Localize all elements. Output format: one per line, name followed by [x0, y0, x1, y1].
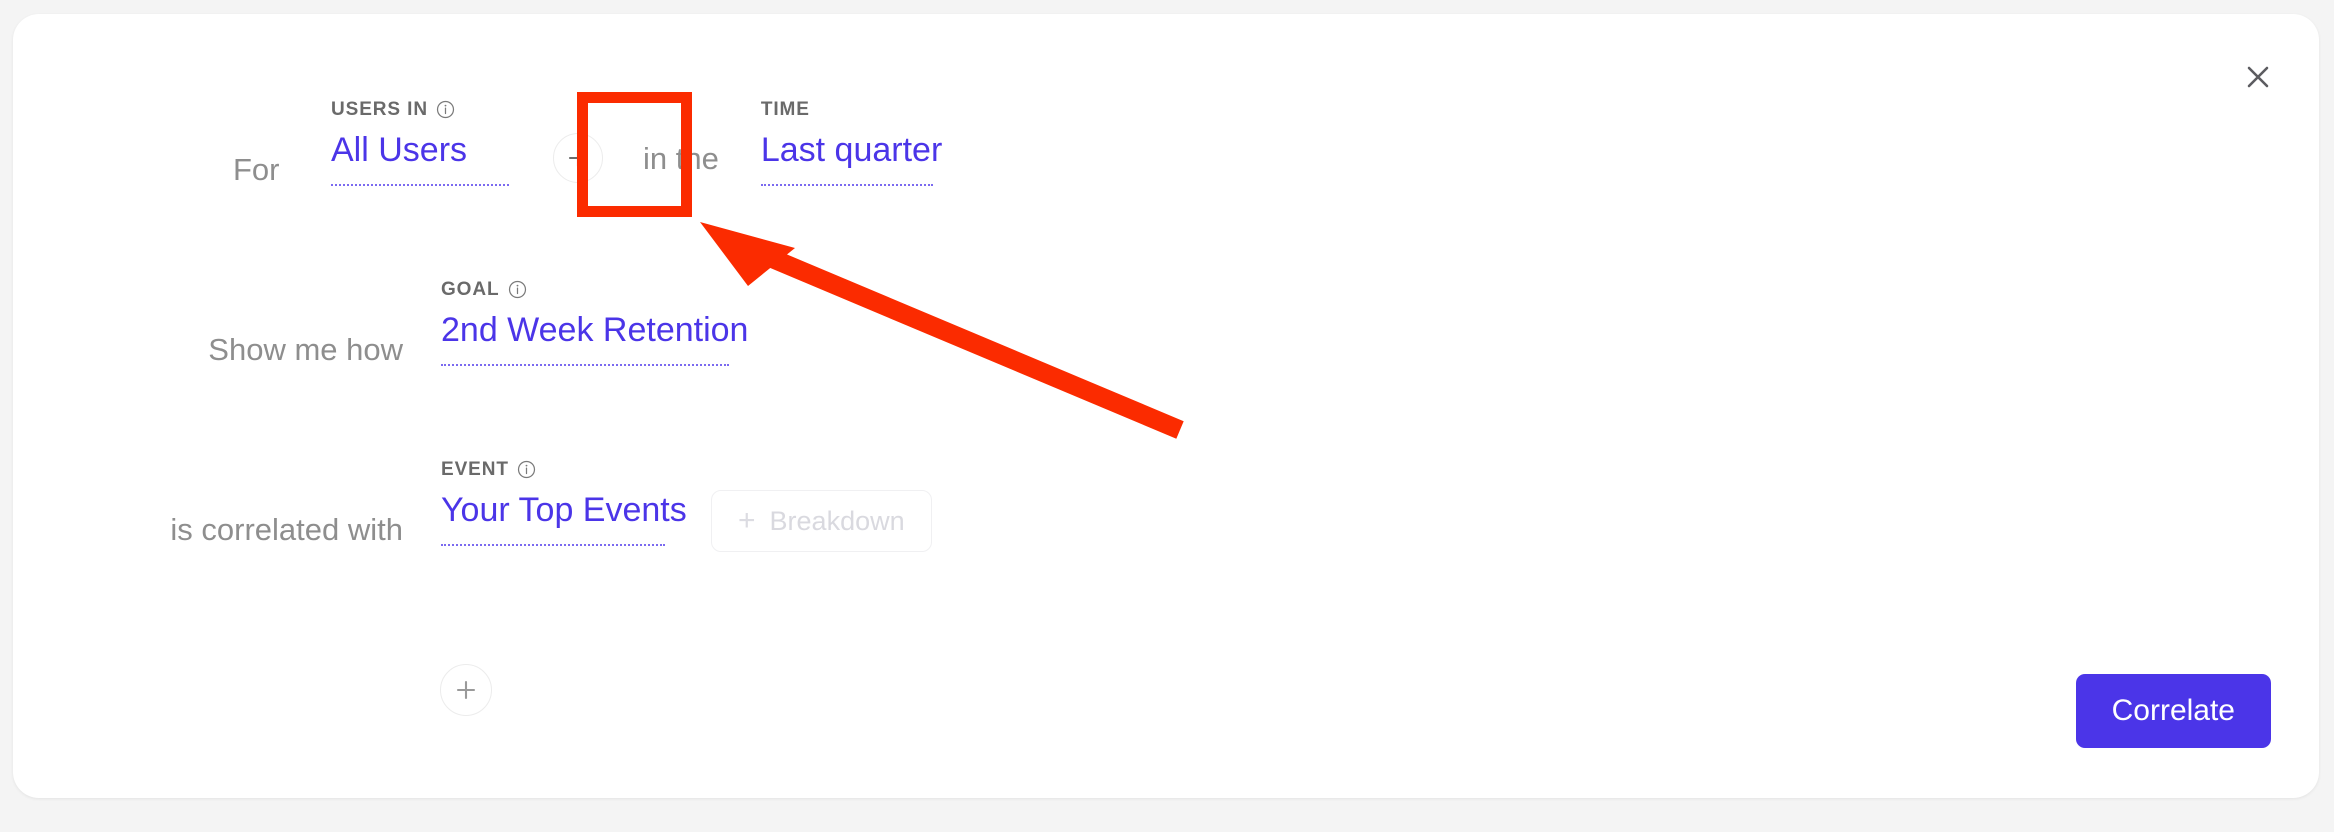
- field-time: TIME Last quarter: [761, 100, 933, 186]
- field-event: EVENT Your Top Events: [441, 460, 665, 546]
- add-breakdown-button[interactable]: + Breakdown: [711, 490, 932, 552]
- query-row-goal: Show me how GOAL 2nd Week Retention: [203, 280, 729, 366]
- add-query-row-button[interactable]: [440, 664, 492, 716]
- field-value-goal[interactable]: 2nd Week Retention: [441, 310, 729, 366]
- plus-icon: [453, 677, 479, 703]
- breakdown-label: Breakdown: [770, 506, 905, 537]
- plus-icon: [565, 145, 591, 171]
- info-icon[interactable]: [436, 100, 455, 119]
- field-value-time[interactable]: Last quarter: [761, 130, 933, 186]
- field-users-in: USERS IN All Users: [331, 100, 509, 186]
- add-users-filter-button[interactable]: [553, 133, 603, 183]
- correlate-button[interactable]: Correlate: [2076, 674, 2271, 748]
- connector-in-the: in the: [643, 143, 719, 174]
- screenshot-root: For USERS IN All Users: [0, 0, 2334, 832]
- row-prefix-is-correlated-with: is correlated with: [148, 514, 403, 545]
- field-label-time: TIME: [761, 100, 810, 119]
- field-label-users-in: USERS IN: [331, 100, 455, 119]
- info-icon[interactable]: [508, 280, 527, 299]
- field-value-users-in[interactable]: All Users: [331, 130, 509, 186]
- field-label-goal: GOAL: [441, 280, 527, 299]
- close-icon: [2243, 62, 2273, 92]
- close-button[interactable]: [2235, 54, 2281, 100]
- query-row-event: is correlated with EVENT Your Top Event: [148, 460, 932, 552]
- plus-icon: +: [738, 506, 756, 536]
- info-icon[interactable]: [517, 460, 536, 479]
- row-prefix-show-me-how: Show me how: [203, 334, 403, 365]
- field-label-text: TIME: [761, 100, 810, 119]
- field-label-text: EVENT: [441, 460, 509, 479]
- correlation-builder-card: For USERS IN All Users: [13, 14, 2319, 798]
- field-value-event[interactable]: Your Top Events: [441, 490, 665, 546]
- field-label-text: GOAL: [441, 280, 500, 299]
- query-row-users: For USERS IN All Users: [343, 100, 933, 186]
- field-goal: GOAL 2nd Week Retention: [441, 280, 729, 366]
- field-label-event: EVENT: [441, 460, 536, 479]
- field-label-text: USERS IN: [331, 100, 428, 119]
